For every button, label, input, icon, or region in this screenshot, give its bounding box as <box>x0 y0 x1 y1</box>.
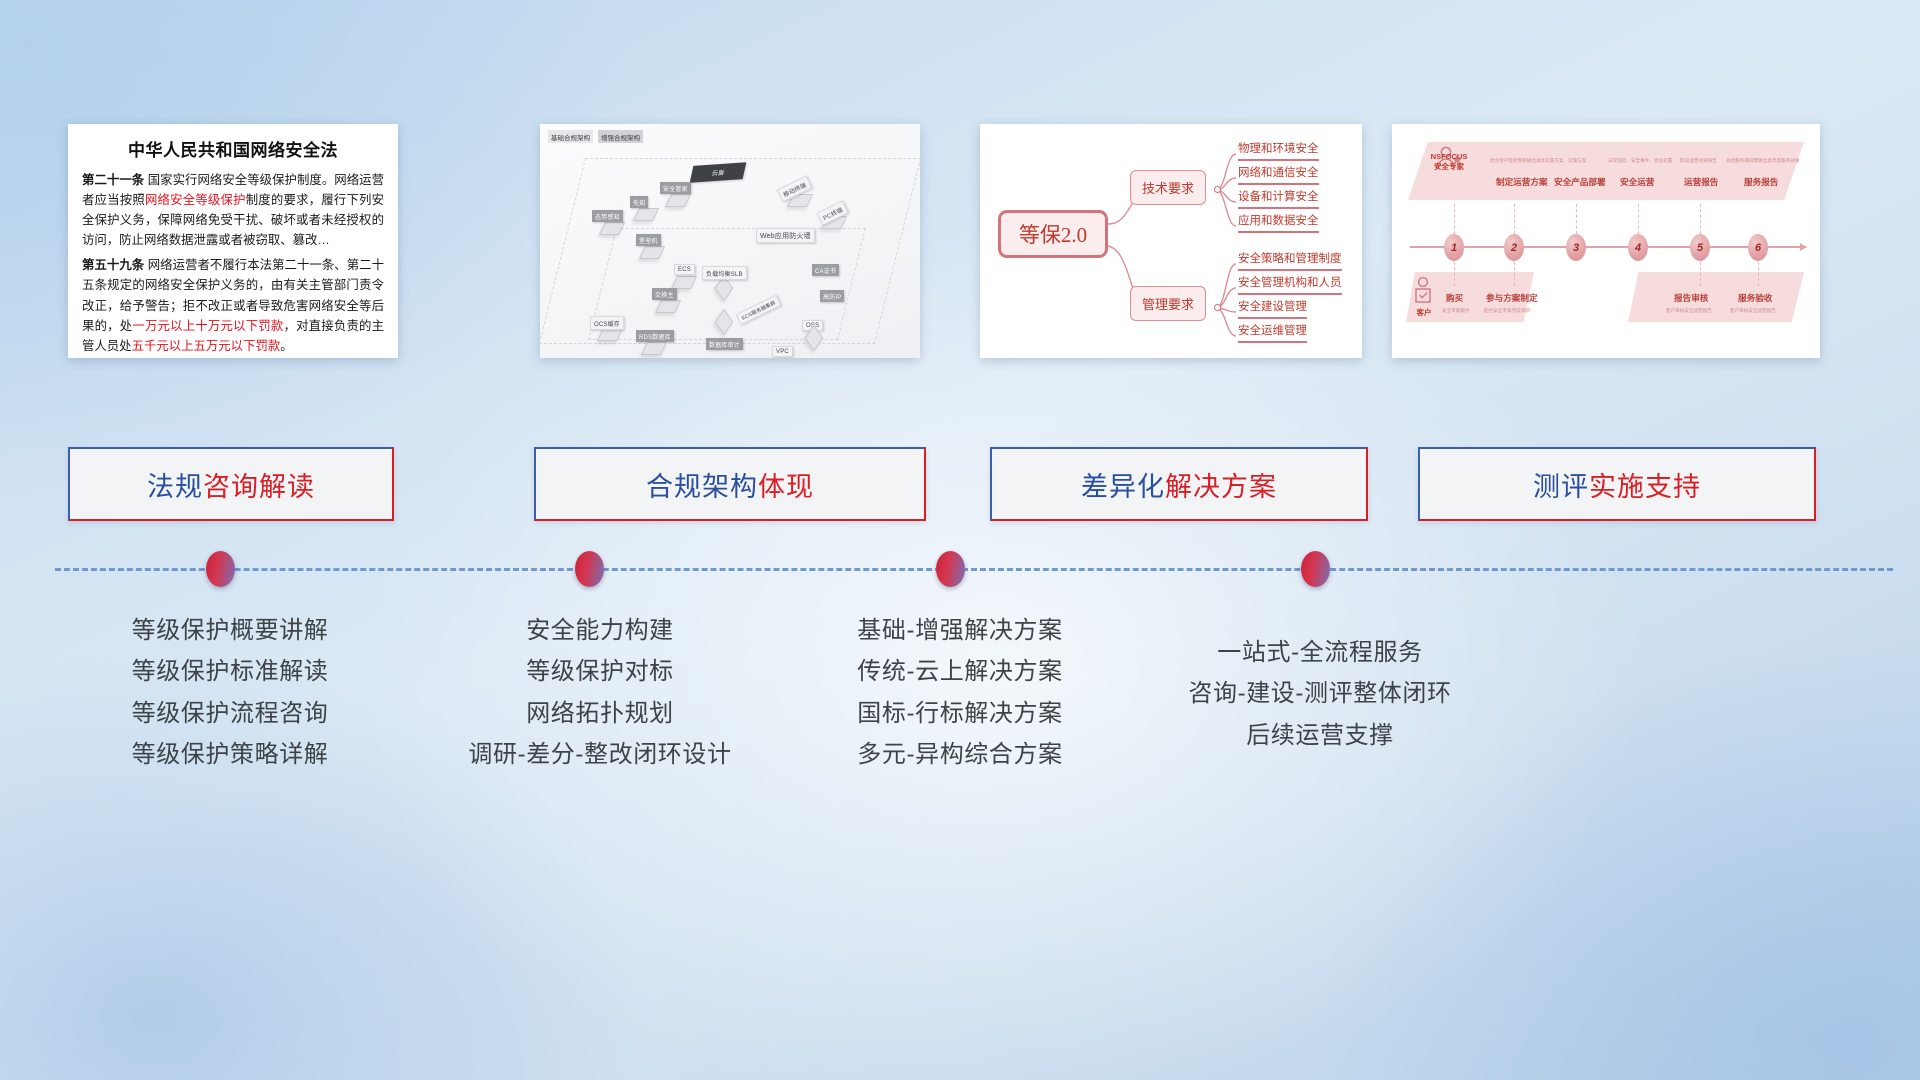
title-4-blue: 测评 <box>1533 465 1589 504</box>
rail-dot-1[interactable] <box>206 551 235 587</box>
title-box-differentiated-solution[interactable]: 差异化解决方案 <box>990 447 1368 521</box>
timeline-node-1[interactable]: 1 <box>1444 234 1464 261</box>
law-article-21-label: 第二十一条 <box>82 173 144 187</box>
topology-node-ca: CA证书 <box>812 264 839 276</box>
timeline-lead-2 <box>1454 204 1455 234</box>
list-item: 网络拓扑规划 <box>430 693 770 734</box>
customer-icon <box>1412 276 1436 306</box>
timeline-lead-4 <box>1576 204 1577 234</box>
mindmap-branch-technical: 技术要求 <box>1130 170 1206 205</box>
law-article-59-highlight-2: 五千元以上五万元以下罚款 <box>132 339 281 353</box>
mindmap-leaf-physical-env: 物理和环境安全 <box>1238 140 1319 161</box>
card-service-timeline[interactable]: NSFOCUS 安全专家 结合客户现状需要输出具体实施方案 制定运营方案 实施方… <box>1392 124 1820 358</box>
list-item: 国标-行标解决方案 <box>790 693 1130 734</box>
law-article-59-label: 第五十九条 <box>82 258 144 272</box>
mindmap-leaf-network-comm: 网络和通信安全 <box>1238 164 1319 185</box>
timeline-brand-line1: NSFOCUS <box>1420 152 1478 162</box>
timeline-top-sub-4: 日常巡检、安全事件、高危处置 <box>1608 158 1672 164</box>
timeline-lead-3 <box>1514 204 1515 234</box>
timeline-brand: NSFOCUS 安全专家 <box>1420 152 1478 172</box>
timeline-node-5[interactable]: 5 <box>1690 234 1710 261</box>
timeline-node-3[interactable]: 3 <box>1566 234 1586 261</box>
timeline-banner-bottom-right <box>1628 272 1804 322</box>
customer-label: 客户 <box>1410 308 1438 318</box>
timeline-top-sub-3: 实施方案 <box>1568 158 1586 164</box>
law-title: 中华人民共和国网络安全法 <box>82 136 384 161</box>
topology-tab-enhanced[interactable]: 增强合规架构 <box>598 130 643 143</box>
timeline-lead-b6 <box>1758 262 1759 286</box>
topology-node-xianzhi: 先知 <box>630 196 648 208</box>
timeline-lead-b1 <box>1454 262 1455 286</box>
timeline-node-6[interactable]: 6 <box>1748 234 1768 261</box>
topology-node-db-audit: 数据库审计 <box>706 338 743 350</box>
topology-tab-basic[interactable]: 基础合规架构 <box>548 130 593 143</box>
list-item: 基础-增强解决方案 <box>790 610 1130 651</box>
timeline-top-sub-5: 阶段运营效果报告 <box>1680 158 1717 164</box>
topology-node-vpc: VPC <box>772 346 793 357</box>
detail-column-2: 安全能力构建 等级保护对标 网络拓扑规划 调研-差分-整改闭环设计 <box>430 610 770 775</box>
timeline-lead-5 <box>1638 204 1639 234</box>
timeline-lead-6 <box>1700 204 1701 234</box>
topology-tabs[interactable]: 基础合规架构 增强合规架构 <box>548 130 643 143</box>
mindmap-leaf-org-personnel: 安全管理机构和人员 <box>1238 274 1342 295</box>
list-item: 等级保护流程咨询 <box>60 693 400 734</box>
title-1-blue: 法规 <box>147 465 203 504</box>
timeline-bottom-sub-6: 客户审核安全运营报告 <box>1730 308 1776 314</box>
timeline-bottom-label-5: 报告审核 <box>1674 292 1708 304</box>
law-article-59-highlight-1: 一万元以上十万元以下罚款 <box>132 319 283 333</box>
topology-node-ocs: OCS缓存 <box>590 316 624 330</box>
timeline-rail <box>55 568 1893 571</box>
card-mindmap-dengbao[interactable]: 等保2.0 技术要求 物理和环境安全 网络和通信安全 设备和计算安全 应用和数据… <box>980 124 1362 358</box>
law-article-59-text-c: 。 <box>280 339 292 353</box>
title-2-red: 体现 <box>758 465 814 504</box>
topology-node-rds: RDS数据库 <box>636 330 674 342</box>
list-item: 等级保护概要讲解 <box>60 610 400 651</box>
title-2-blue: 合规架构 <box>646 465 758 504</box>
title-3-blue: 差异化 <box>1081 465 1165 504</box>
topology-node-waf: Web应用防火墙 <box>756 228 815 243</box>
timeline-lead-b2 <box>1514 262 1515 286</box>
timeline-top-label-2: 制定运营方案 <box>1496 176 1548 188</box>
title-box-compliance-architecture[interactable]: 合规架构体现 <box>534 447 926 521</box>
timeline-node-2[interactable]: 2 <box>1504 234 1524 261</box>
timeline-top-sub-2: 结合客户现状需要输出具体实施方案 <box>1490 158 1564 164</box>
detail-column-1: 等级保护概要讲解 等级保护标准解读 等级保护流程咨询 等级保护策略详解 <box>60 610 400 775</box>
law-article-59: 第五十九条 网络运营者不履行本法第二十一条、第二十五条规定的网络安全保护义务的，… <box>82 255 384 355</box>
mindmap-dot-management[interactable] <box>1214 304 1221 311</box>
mindmap-dot-technical[interactable] <box>1214 186 1221 193</box>
title-box-regulation-consulting[interactable]: 法规咨询解读 <box>68 447 394 521</box>
rail-dot-4[interactable] <box>1301 551 1330 587</box>
timeline-bottom-label-6: 服务验收 <box>1738 292 1772 304</box>
timeline-bottom-sub-2: 配合安全专家完成调研 <box>1484 308 1530 314</box>
timeline-node-4[interactable]: 4 <box>1628 234 1648 261</box>
title-boxes-row: 法规咨询解读 合规架构体现 差异化解决方案 测评实施支持 <box>0 447 1920 521</box>
timeline-bottom-label-1: 购买 <box>1446 292 1463 304</box>
rail-dot-2[interactable] <box>575 551 604 587</box>
card-network-topology[interactable]: 基础合规架构 增强合规架构 云盾 安全管家 先知 态势感知 堡垒机 ECS 交换… <box>540 124 920 358</box>
list-item: 后续运营支撑 <box>1150 715 1490 756</box>
topology-cube-10 <box>641 342 667 355</box>
mindmap: 等保2.0 技术要求 物理和环境安全 网络和通信安全 设备和计算安全 应用和数据… <box>980 124 1362 358</box>
list-item: 等级保护策略详解 <box>60 734 400 775</box>
detail-column-3: 基础-增强解决方案 传统-云上解决方案 国标-行标解决方案 多元-异构综合方案 <box>790 610 1130 775</box>
timeline-bottom-label-2: 参与方案制定 <box>1486 292 1538 304</box>
list-item: 多元-异构综合方案 <box>790 734 1130 775</box>
mindmap-leaf-ops-mgmt: 安全运维管理 <box>1238 322 1307 343</box>
topology-node-situation: 态势感知 <box>592 210 623 222</box>
topology-node-bastion: 堡垒机 <box>636 234 661 246</box>
preview-cards-row: 中华人民共和国网络安全法 第二十一条 国家实行网络安全等级保护制度。网络运营者应… <box>0 124 1920 364</box>
timeline-top-label-6: 服务报告 <box>1744 176 1778 188</box>
timeline-top-label-3: 安全产品部署 <box>1554 176 1606 188</box>
timeline-bottom-sub-1: 安全专家服务 <box>1442 308 1470 314</box>
law-article-21: 第二十一条 国家实行网络安全等级保护制度。网络运营者应当按照网络安全等级保护制度… <box>82 170 384 250</box>
topology-node-switch: 交换主 <box>652 288 677 300</box>
topology-node-slb: 负载均衡SLB <box>702 266 747 280</box>
mindmap-leaf-policy-system: 安全策略和管理制度 <box>1238 250 1342 271</box>
topology-node-security-steward: 安全管家 <box>660 182 691 194</box>
timeline-brand-line2: 安全专家 <box>1420 162 1478 172</box>
mindmap-leaf-device-compute: 设备和计算安全 <box>1238 188 1319 209</box>
topology-node-antiddos: 高防IP <box>820 290 844 302</box>
list-item: 等级保护标准解读 <box>60 651 400 692</box>
law-article-21-highlight: 网络安全等级保护 <box>145 193 246 207</box>
list-item: 一站式-全流程服务 <box>1150 632 1490 673</box>
list-item: 传统-云上解决方案 <box>790 651 1130 692</box>
timeline-bottom-sub-5: 客户审核安全运营报告 <box>1666 308 1712 314</box>
timeline-lead-b5 <box>1700 262 1701 286</box>
timeline-top-label-4: 安全运营 <box>1620 176 1654 188</box>
card-cybersecurity-law[interactable]: 中华人民共和国网络安全法 第二十一条 国家实行网络安全等级保护制度。网络运营者应… <box>68 124 398 358</box>
topology-node-ecs: ECS <box>674 264 695 275</box>
rail-dot-3[interactable] <box>936 551 965 587</box>
list-item: 调研-差分-整改闭环设计 <box>430 734 770 775</box>
mindmap-leaf-construction-mgmt: 安全建设管理 <box>1238 298 1307 319</box>
list-item: 咨询-建设-测评整体闭环 <box>1150 673 1490 714</box>
title-3-red: 解决方案 <box>1165 465 1277 504</box>
mindmap-leaf-app-data: 应用和数据安全 <box>1238 212 1319 233</box>
title-4-red: 实施支持 <box>1589 465 1701 504</box>
list-item: 等级保护对标 <box>430 651 770 692</box>
mindmap-branch-management: 管理要求 <box>1130 286 1206 321</box>
detail-column-4: 一站式-全流程服务 咨询-建设-测评整体闭环 后续运营支撑 <box>1150 632 1490 756</box>
title-1-red: 咨询解读 <box>203 465 315 504</box>
list-item: 安全能力构建 <box>430 610 770 651</box>
service-timeline: NSFOCUS 安全专家 结合客户现状需要输出具体实施方案 制定运营方案 实施方… <box>1392 124 1820 358</box>
timeline-top-sub-6: 总结服务期间需要出具年度服务效果 <box>1726 158 1800 164</box>
timeline-top-label-5: 运营报告 <box>1684 176 1718 188</box>
timeline-axis <box>1410 246 1806 248</box>
title-box-evaluation-support[interactable]: 测评实施支持 <box>1418 447 1816 521</box>
topology-diagram: 基础合规架构 增强合规架构 云盾 安全管家 先知 态势感知 堡垒机 ECS 交换… <box>540 124 920 358</box>
law-document: 中华人民共和国网络安全法 第二十一条 国家实行网络安全等级保护制度。网络运营者应… <box>68 124 398 358</box>
